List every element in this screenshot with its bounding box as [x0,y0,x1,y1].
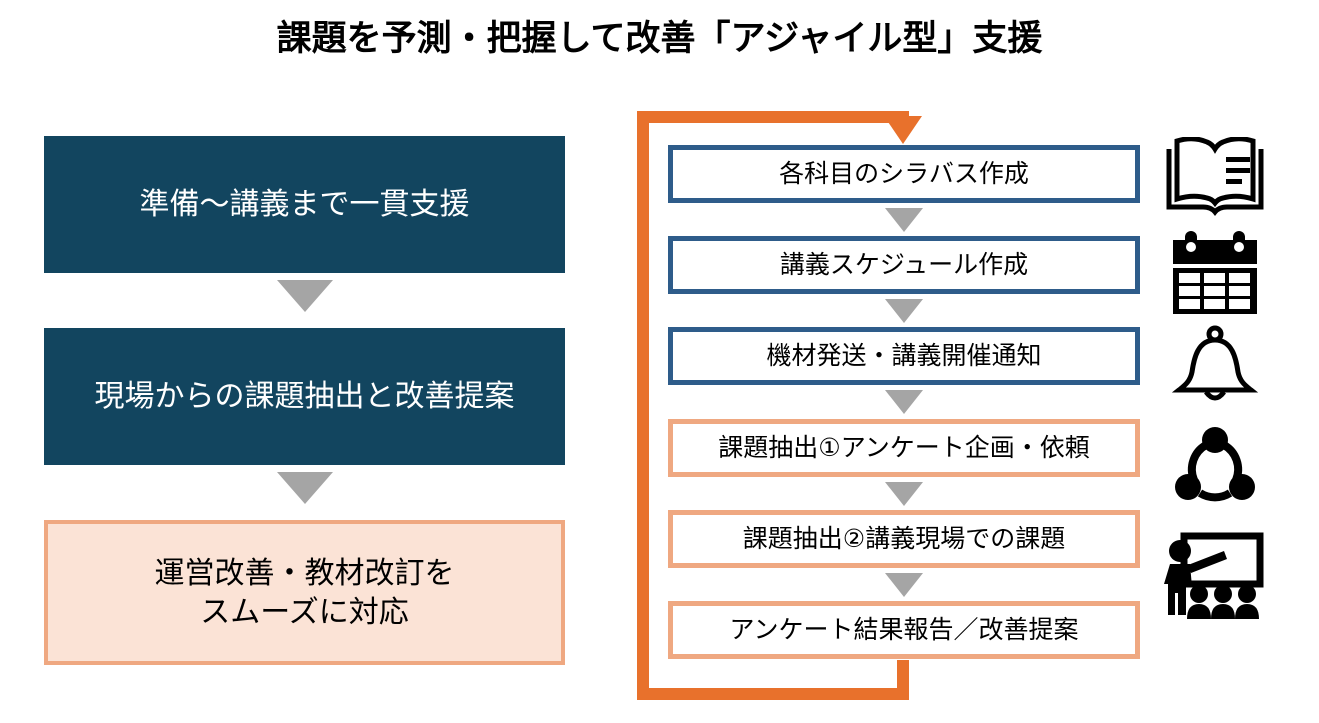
feedback-loop-right-segment [897,660,909,700]
page-title: 課題を予測・把握して改善「アジャイル型」支援 [0,10,1319,61]
left-box-2[interactable]: 現場からの課題抽出と改善提案 [44,328,565,465]
left-box-2-label: 現場からの課題抽出と改善提案 [95,377,515,416]
step-box-6-label: アンケート結果報告／改善提案 [729,614,1078,647]
lecture-presentation-icon [1160,533,1270,623]
arrow-down-step-5 [885,573,923,597]
feedback-loop-bottom-segment [637,688,909,700]
arrow-down-step-4 [885,482,923,506]
open-book-icon [1160,133,1270,223]
feedback-loop-left-segment [637,111,649,700]
step-box-1-label: 各科目のシラバス作成 [779,158,1029,191]
arrow-down-step-2 [885,299,923,323]
left-box-1-label: 準備〜講義まで一貫支援 [140,185,470,224]
network-share-icon [1160,420,1270,510]
left-box-1[interactable]: 準備〜講義まで一貫支援 [44,136,565,273]
step-box-6[interactable]: アンケート結果報告／改善提案 [668,601,1140,659]
arrow-down-left-2 [277,472,333,504]
step-box-1[interactable]: 各科目のシラバス作成 [668,145,1140,203]
step-box-4[interactable]: 課題抽出①アンケート企画・依頼 [668,419,1140,477]
step-box-3-label: 機材発送・講義開催通知 [766,340,1041,373]
left-box-3-label-line1: 運営改善・教材改訂を [155,554,455,593]
arrow-down-step-3 [885,390,923,414]
step-box-2-label: 講義スケジュール作成 [780,249,1028,282]
step-box-5[interactable]: 課題抽出②講義現場での課題 [668,510,1140,568]
calendar-icon [1160,228,1270,318]
step-box-4-label: 課題抽出①アンケート企画・依頼 [718,432,1089,465]
step-box-5-label: 課題抽出②講義現場での課題 [743,523,1065,556]
slide-canvas: 課題を予測・把握して改善「アジャイル型」支援 準備〜講義まで一貫支援 現場からの… [0,0,1319,723]
arrow-down-left-1 [277,280,333,312]
arrow-down-step-1 [885,208,923,232]
feedback-loop-top-segment [637,111,909,123]
step-box-3[interactable]: 機材発送・講義開催通知 [668,327,1140,385]
bell-icon [1160,320,1270,410]
left-box-3-label-line2: スムーズに対応 [200,593,409,632]
left-box-3[interactable]: 運営改善・教材改訂を スムーズに対応 [44,520,565,665]
step-box-2[interactable]: 講義スケジュール作成 [668,236,1140,294]
feedback-loop-arrowhead [884,116,922,144]
